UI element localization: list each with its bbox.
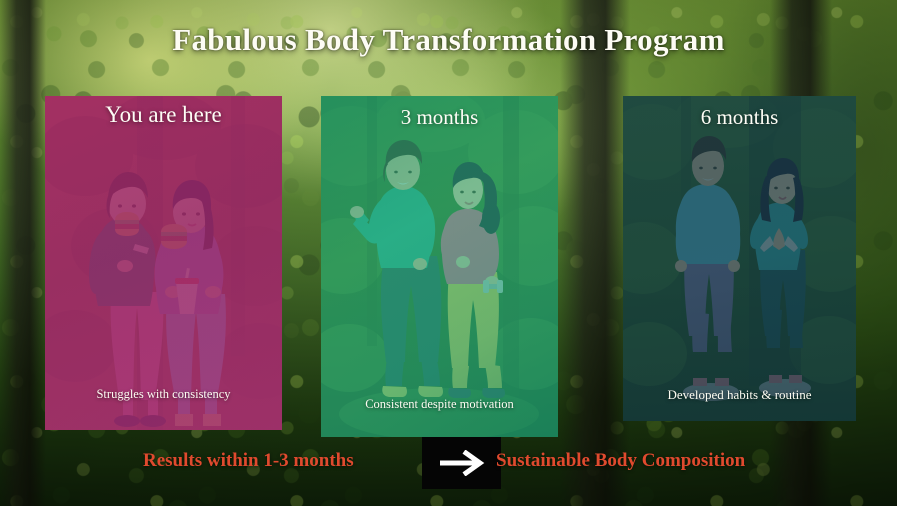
card-three-months[interactable]: 3 months Consistent despite motivation <box>321 96 558 437</box>
card-six-months[interactable]: 6 months Developed habits & routine <box>623 96 856 421</box>
card2-heading: 3 months <box>321 105 558 130</box>
footer-left-text: Results within 1-3 months <box>143 450 354 472</box>
card2-caption: Consistent despite motivation <box>321 397 558 412</box>
card3-color-overlay <box>623 96 856 421</box>
card1-heading: You are here <box>45 102 282 128</box>
card3-heading: 6 months <box>623 105 856 130</box>
arrow-right-icon <box>422 437 501 489</box>
footer-right-text: Sustainable Body Composition <box>496 450 745 472</box>
card-you-are-here[interactable]: You are here Struggles with consistency <box>45 96 282 430</box>
page-title: Fabulous Body Transformation Program <box>0 22 897 58</box>
card1-color-overlay <box>45 96 282 430</box>
arrow-right-glyph <box>438 450 486 476</box>
poster-canvas: Fabulous Body Transformation Program <box>0 0 897 506</box>
card1-caption: Struggles with consistency <box>45 387 282 402</box>
card3-caption: Developed habits & routine <box>623 387 856 403</box>
card2-color-overlay <box>321 96 558 437</box>
